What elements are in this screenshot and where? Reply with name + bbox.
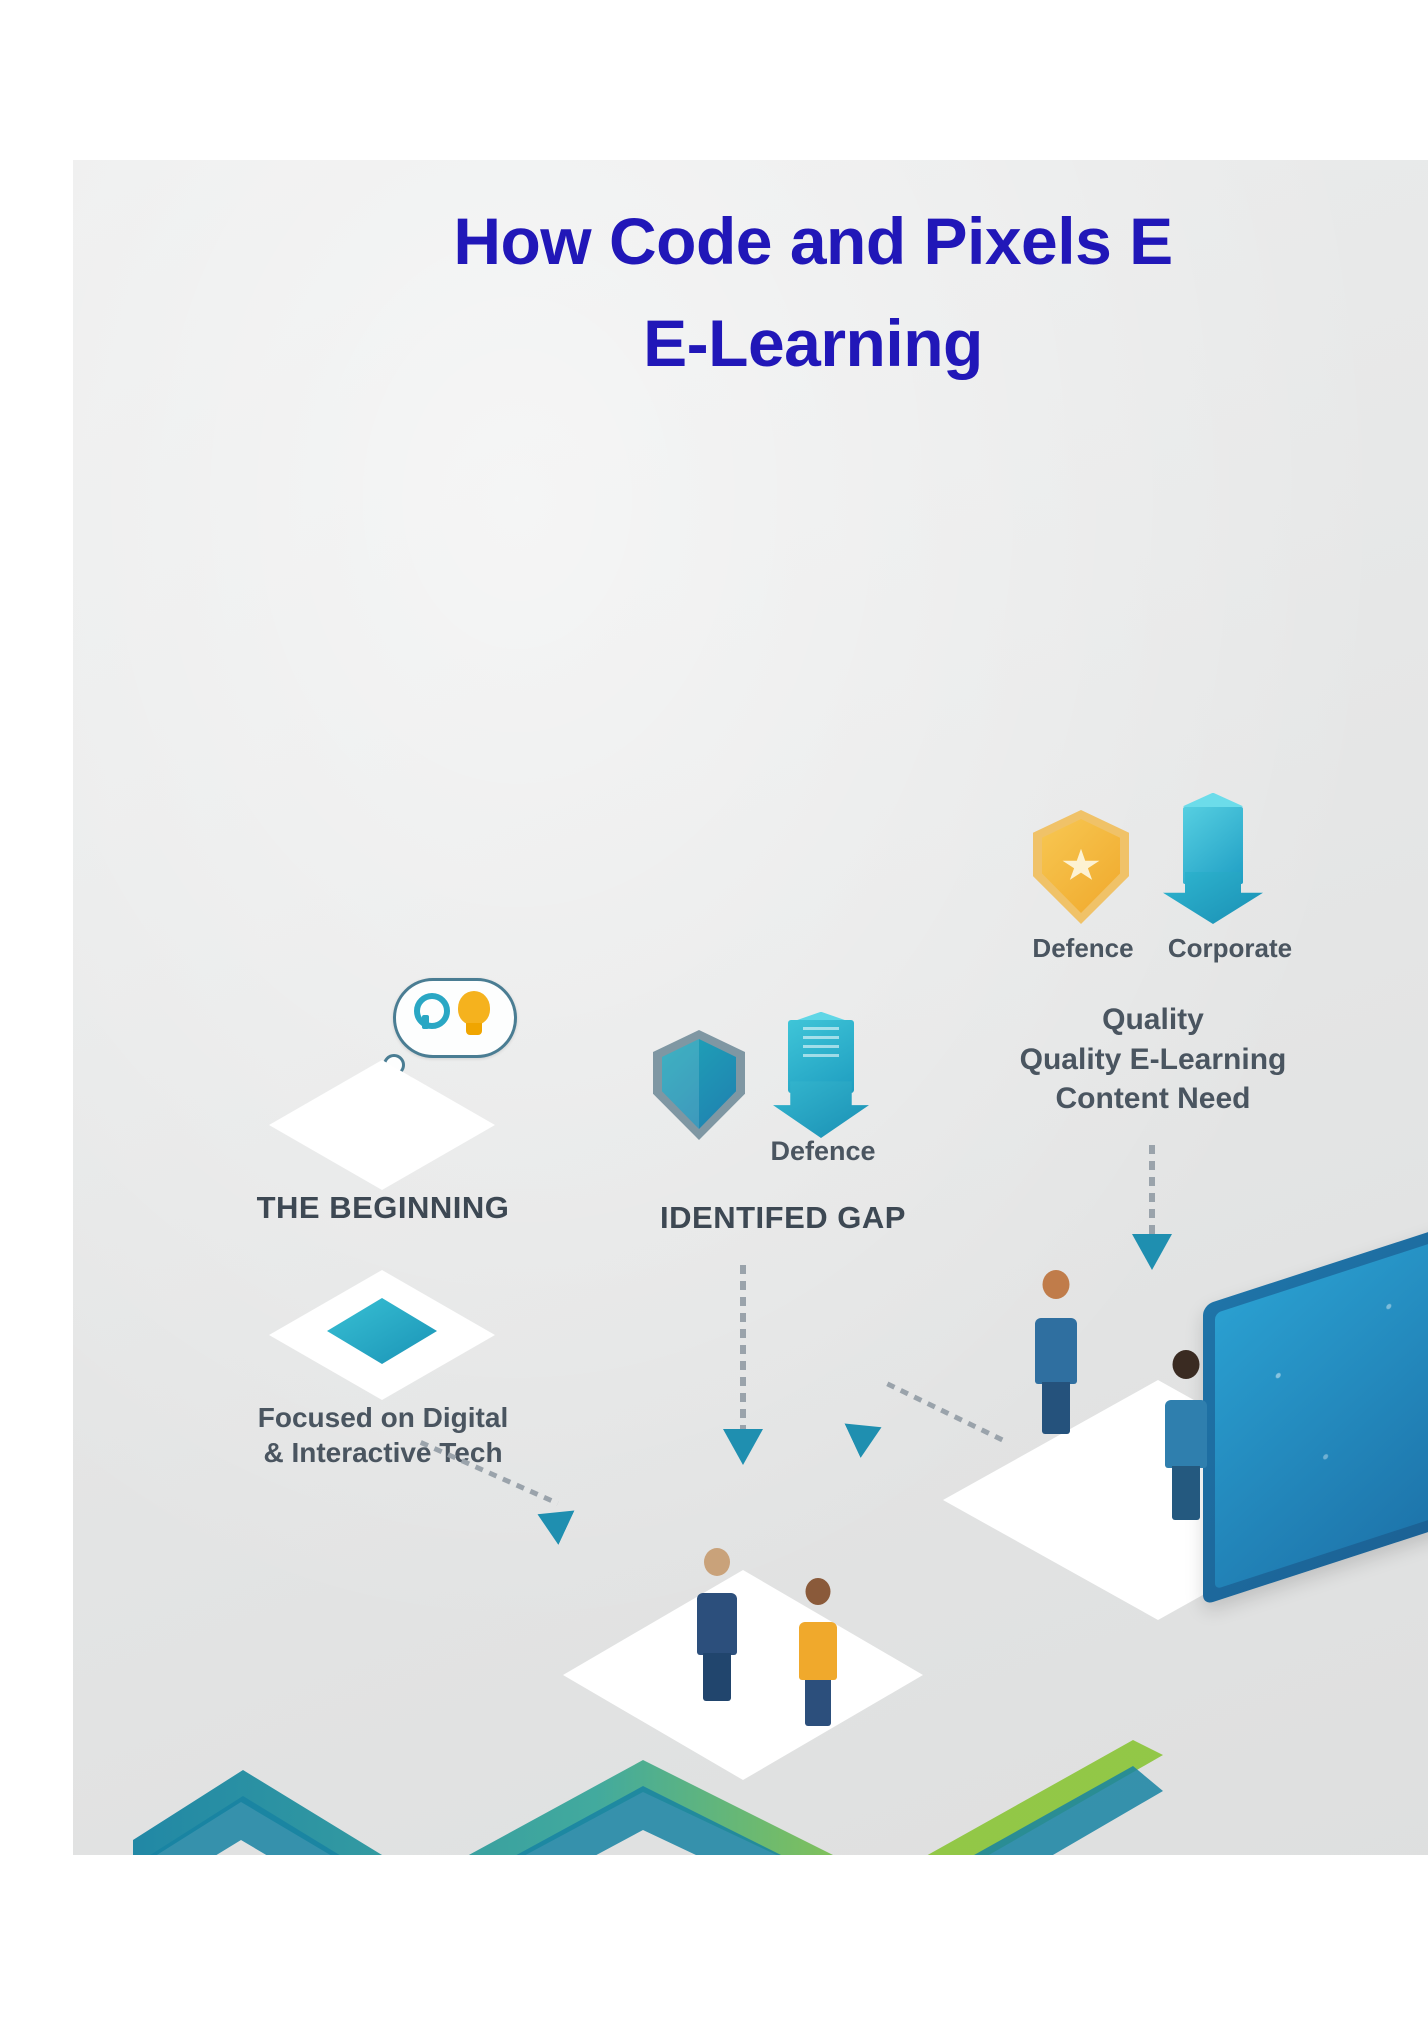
gold-shield-star-icon xyxy=(1033,810,1129,924)
lightbulb-base xyxy=(466,1023,482,1035)
pedestal-top xyxy=(269,1060,495,1190)
platform-left-face xyxy=(563,1570,923,1780)
title-line-1: How Code and Pixels E xyxy=(453,204,1172,278)
need-text-line-2: Quality E-Learning xyxy=(943,1040,1363,1080)
title-line-2: E-Learning xyxy=(73,292,1428,394)
figure-student xyxy=(797,1578,839,1723)
gap-sub-label: Defence xyxy=(713,1135,933,1169)
beginning-pedestal xyxy=(269,1060,495,1190)
page-title: How Code and Pixels E E-Learning xyxy=(73,190,1428,395)
arrow-need-down-head xyxy=(1132,1234,1172,1270)
platform-left xyxy=(563,1570,923,1780)
figure-presenter xyxy=(1033,1270,1079,1430)
server-building-down-arrow-icon xyxy=(773,1020,869,1138)
need-text-line-1: Quality xyxy=(943,1000,1363,1040)
need-text-line-3: Content Need xyxy=(943,1079,1363,1119)
figure-businessman xyxy=(695,1548,739,1698)
figure-viewer-head xyxy=(1173,1350,1200,1379)
arrow-need-down xyxy=(1149,1145,1155,1270)
figure-presenter-head xyxy=(1043,1270,1070,1299)
cube-down-arrow xyxy=(1163,872,1263,924)
stage-label-beginning: THE BEGINNING xyxy=(173,1190,593,1226)
figure-businessman-head xyxy=(704,1548,730,1576)
isometric-scene xyxy=(503,1290,1428,1855)
arrow-need-down-line xyxy=(1149,1145,1155,1236)
corporate-cube-down-arrow-icon xyxy=(1163,800,1263,924)
question-mark-icon xyxy=(414,993,450,1029)
question-mark-stem xyxy=(422,1015,429,1029)
figure-viewer xyxy=(1163,1350,1209,1515)
figure-student-head xyxy=(806,1578,831,1605)
need-text-block: Quality Quality E-Learning Content Need xyxy=(943,1000,1363,1119)
thought-bubble-icon xyxy=(393,978,517,1058)
display-monitor xyxy=(1203,1195,1428,1605)
server-rack-lines xyxy=(803,1027,840,1059)
figure-presenter-legs xyxy=(1042,1382,1070,1434)
figure-businessman-torso xyxy=(697,1593,737,1655)
monitor-screen xyxy=(1215,1211,1428,1590)
figure-viewer-torso xyxy=(1165,1400,1207,1468)
lightbulb-icon xyxy=(458,991,490,1025)
figure-presenter-torso xyxy=(1035,1318,1077,1384)
figure-student-legs xyxy=(805,1680,831,1726)
screenshot-root: How Code and Pixels E E-Learning THE BEG… xyxy=(0,0,1428,2018)
stage-label-gap: IDENTIFED GAP xyxy=(593,1200,973,1236)
figure-businessman-legs xyxy=(703,1653,731,1701)
shield-icon xyxy=(653,1030,745,1140)
need-icon-label-corporate: Corporate xyxy=(1135,932,1325,965)
figure-viewer-legs xyxy=(1172,1466,1200,1520)
slide-panel: How Code and Pixels E E-Learning THE BEG… xyxy=(73,160,1428,1855)
figure-student-torso xyxy=(799,1622,837,1680)
